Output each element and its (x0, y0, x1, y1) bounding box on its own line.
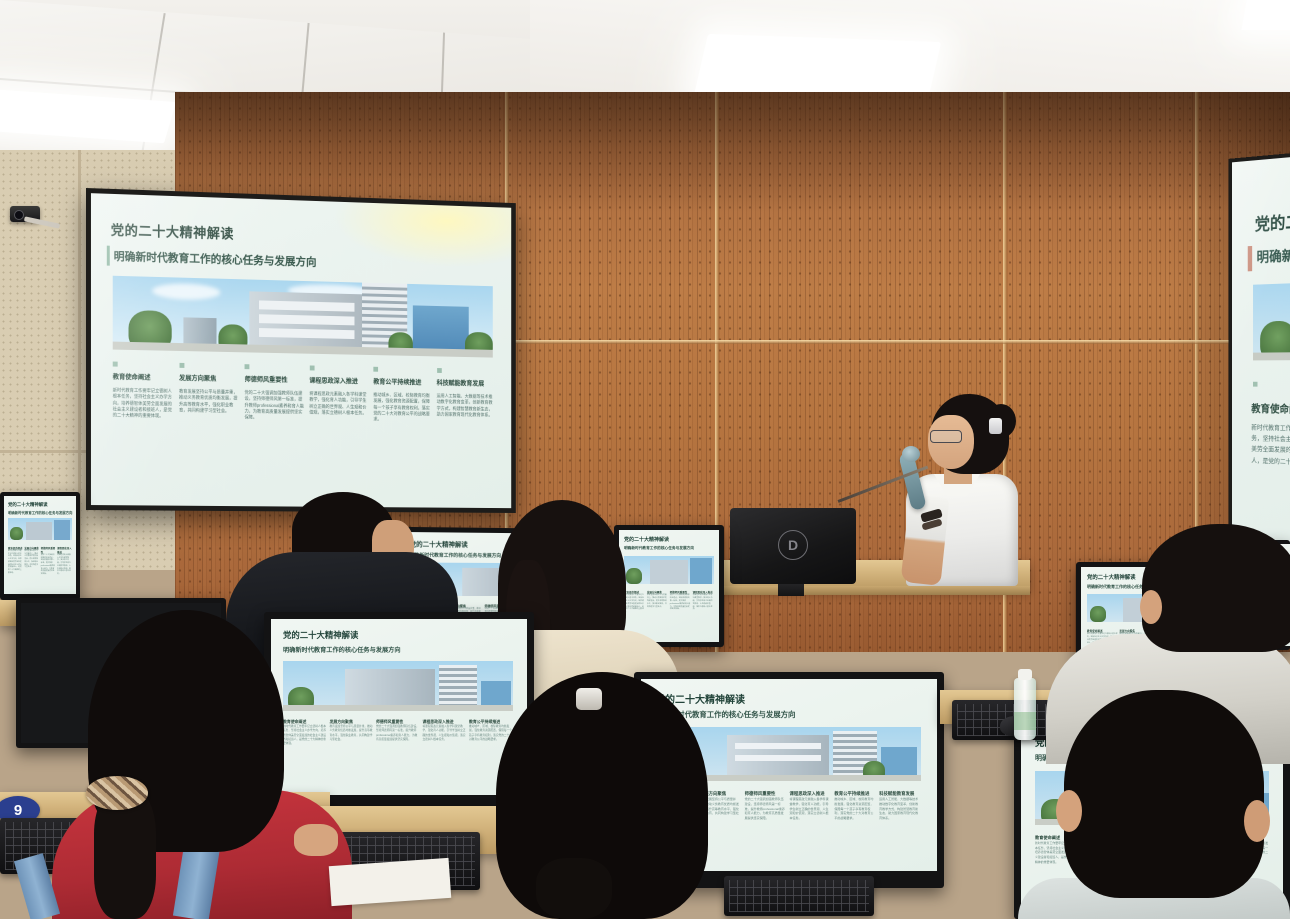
monitor-slide-subtitle: 明确新时代教育工作的核心任务与发展方向 (283, 645, 401, 654)
main-projection-screen[interactable]: 党的二十大精神解读 明确新时代教育工作的核心任务与发展方向 (86, 188, 516, 513)
monitor-slide-subtitle: 明确新时代教育工作的核心任务与发展方向 (8, 510, 72, 515)
column-heading: 教育使命阐述 (113, 374, 174, 384)
monitor-front-left[interactable]: 党的二十大精神解读 明确新时代教育工作的核心任务与发展方向 教育使命阐述新时代教… (264, 612, 534, 808)
attendee-right-back-ear (1140, 590, 1162, 624)
monitor-column-heading: 师德师风重要性 (41, 546, 56, 554)
monitor-column-body: 运用人工智能、大数据等技术推动数字化教育变革，创新教育教学方式，构建智慧教育新生… (879, 797, 921, 821)
slide-column: 课程思政深入推进 将课程思政元素融入各学科课堂教学，强化育人功能，引导学生树立正… (309, 365, 368, 423)
attendee-right-front-hair (1064, 690, 1264, 898)
keyboard-center-back[interactable] (724, 876, 874, 916)
column-heading: 发展方向聚焦 (179, 375, 240, 385)
presenter-hair-clip (989, 418, 1002, 434)
side-slide-subtitle: 明确新时代教育工作的核心任务与发展方向 (1257, 234, 1290, 267)
slide-column: 发展方向聚焦 教育发展坚持公平与质量并重，推动义务教育优质均衡发展，提升高等教育… (179, 363, 240, 421)
monitor-column-heading: 课程思政深入推进 (57, 546, 72, 554)
side-column-body: 新时代教育工作要牢记立德树人根本任务，坚持社会主义办学方向，培养德智体美劳全面发… (1251, 422, 1290, 470)
column-body: 党的二十大强调加强教师队伍建设，坚持师德师风第一标准，提升教师professio… (245, 389, 305, 422)
attendee-front-center-hair-clip (576, 688, 602, 710)
column-body: 推动城乡、区域、校际教育均衡发展，强化教育资源配置，保障每一个孩子享有教育权利，… (373, 392, 432, 424)
attendee-right-front-ear-right (1244, 800, 1270, 842)
monitor-column-body: 将课程思政元素融入各学科课堂教学，强化育人功能，引导学生树立正确的世界观、人生观… (423, 725, 467, 742)
column-heading: 课程思政深入推进 (309, 377, 368, 387)
attendee-right-back-hair (1142, 524, 1290, 652)
monitor-column-body: 教育发展坚持公平与质量并重，推动义务教育优质均衡发展，提升高等教育水平，强化职业… (647, 594, 668, 608)
classroom-scene: 党的二十大精神解读 明确新时代教育工作的核心任务与发展方向 (0, 0, 1290, 919)
monitor-slide: 党的二十大精神解读 明确新时代教育工作的核心任务与发展方向 教育使命阐述新时代教… (271, 619, 527, 795)
slide-hero-image (113, 276, 493, 358)
column-heading: 师德师风重要性 (245, 376, 305, 386)
monitor-column-body: 将课程思政元素融入各学科课堂教学，强化育人功能，引导学生树立正确的世界观、人生观… (693, 594, 714, 611)
monitor-teacher-station[interactable]: D (730, 508, 856, 584)
column-body: 教育发展坚持公平与质量并重，推动义务教育优质均衡发展，提升高等教育水平，强化职业… (179, 388, 240, 414)
side-slide-accent-bar (1248, 246, 1252, 271)
slide-column: 教育公平持续推进 推动城乡、区域、校际教育均衡发展，强化教育资源配置，保障每一个… (373, 367, 432, 424)
slide-column: 教育使命阐述 新时代教育工作要牢记立德树人根本任务，坚持社会主义办学方向，培养德… (113, 362, 174, 421)
presenter-glasses-icon (930, 430, 962, 443)
column-marker-icon (245, 364, 250, 369)
paper-sheet[interactable] (329, 858, 451, 906)
column-heading: 教育公平持续推进 (373, 378, 432, 387)
desk-edge-back (700, 586, 1030, 595)
monitor-slide-title: 党的二十大精神解读 (8, 502, 48, 508)
monitor-slide-title: 党的二十大精神解读 (1087, 573, 1136, 581)
monitor-column-body: 党的二十大强调加强教师队伍建设，坚持师德师风第一标准，提升教师professio… (41, 554, 56, 576)
attendee-front-center-ponytail (536, 858, 612, 919)
monitor-column-body: 新时代教育工作要牢记立德树人根本任务，坚持社会主义办学方向，培养德智体美劳全面发… (283, 725, 327, 747)
slide-main: 党的二十大精神解读 明确新时代教育工作的核心任务与发展方向 (91, 193, 511, 508)
slide-columns: 教育使命阐述 新时代教育工作要牢记立德树人根本任务，坚持社会主义办学方向，培养德… (113, 362, 495, 425)
column-heading: 科技赋能教育发展 (437, 380, 495, 389)
monitor-slide: 党的二十大精神解读 明确新时代教育工作的核心任务与发展方向 教育使命阐述新时代教… (4, 496, 76, 594)
monitor-slide-subtitle: 明确新时代教育工作的核心任务与发展方向 (624, 546, 694, 551)
side-column-marker-icon (1253, 382, 1257, 387)
slide-column: 师德师风重要性 党的二十大强调加强教师队伍建设，坚持师德师风第一标准，提升教师p… (245, 364, 305, 422)
column-marker-icon (373, 367, 378, 372)
monitor-column-body: 新时代教育工作要牢记立德树人根本任务，坚持社会主义办学方向，培养德智体美劳全面发… (8, 550, 23, 574)
slide-subtitle: 明确新时代教育工作的核心任务与发展方向 (114, 248, 317, 270)
monitor-slide-title: 党的二十大精神解读 (283, 629, 358, 641)
slide-column: 科技赋能教育发展 运用人工智能、大数据等技术推动数字化教育变革，创新教育教学方式… (437, 368, 495, 425)
monitor-column-body: 党的二十大强调加强教师队伍建设，坚持师德师风第一标准，提升教师professio… (376, 725, 420, 742)
monitor-column-body: 推动城乡、区域、校际教育均衡发展，强化教育资源配置，保障每一个孩子享有教育权利，… (834, 797, 876, 821)
monitor-column-body: 新时代教育工作要牢记立德树人根本任务，坚持社会主义办学方向，培养德智体美劳全面发… (624, 594, 645, 614)
water-bottle[interactable] (1014, 678, 1036, 740)
monitor-stand (778, 584, 804, 596)
monitor-column-body: 教育发展坚持公平与质量并重，推动义务教育优质均衡发展，提升高等教育水平，强化职业… (24, 550, 39, 569)
slide-accent-bar (107, 246, 110, 266)
monitor-column-body: 党的二十大强调加强教师队伍建设，坚持师德师风第一标准，提升教师professio… (670, 594, 691, 611)
microphone-head-icon (902, 446, 920, 462)
side-column-heading: 教育使命阐述 (1251, 401, 1290, 417)
monitor-column-body: 将课程思政元素融入各学科课堂教学，强化育人功能，引导学生树立正确的世界观、人生观… (57, 554, 72, 576)
ceiling-led-panel-right (1241, 0, 1290, 30)
hair-scrunchie (86, 776, 148, 810)
side-slide-title: 党的二十大精神解读 (1255, 201, 1290, 235)
monitor-slide-title: 党的二十大精神解读 (410, 539, 468, 549)
monitor-column-body: 教育发展坚持公平与质量并重，推动义务教育优质均衡发展，提升高等教育水平，强化职业… (330, 725, 374, 742)
dell-logo-icon: D (778, 530, 808, 560)
column-marker-icon (437, 368, 442, 373)
column-marker-icon (113, 362, 118, 367)
column-body: 运用人工智能、大数据等技术推动数字化教育变革，创新教育教学方式，构建智慧教育新生… (437, 393, 495, 419)
slide-title: 党的二十大精神解读 (111, 219, 234, 243)
monitor-mid-center-right[interactable]: 党的二十大精神解读 明确新时代教育工作的核心任务与发展方向 教育使命阐述新时代教… (614, 525, 724, 647)
wall-upper-shadow (175, 92, 1290, 212)
column-body: 新时代教育工作要牢记立德树人根本任务，坚持社会主义办学方向，培养德智体美劳全面发… (113, 387, 174, 420)
column-marker-icon (309, 365, 314, 370)
monitor-slide: 党的二十大精神解读 明确新时代教育工作的核心任务与发展方向 教育使命阐述新时代教… (619, 530, 719, 642)
column-marker-icon (179, 363, 184, 368)
monitor-column-body: 党的二十大强调加强教师队伍建设，坚持师德师风第一标准，提升教师professio… (745, 797, 787, 821)
attendee-front-left-hand (294, 824, 338, 856)
monitor-far-left[interactable]: 党的二十大精神解读 明确新时代教育工作的核心任务与发展方向 教育使命阐述新时代教… (0, 492, 80, 600)
monitor-slide-title: 党的二十大精神解读 (624, 536, 669, 543)
side-slide-hero-image (1253, 281, 1290, 361)
monitor-column-body: 将课程思政元素融入各学科课堂教学，强化育人功能，引导学生树立正确的世界观、人生观… (789, 797, 831, 821)
column-body: 将课程思政元素融入各学科课堂教学，强化育人功能，引导学生树立正确的世界观、人生观… (309, 391, 368, 417)
attendee-right-front-ear (1056, 790, 1082, 832)
